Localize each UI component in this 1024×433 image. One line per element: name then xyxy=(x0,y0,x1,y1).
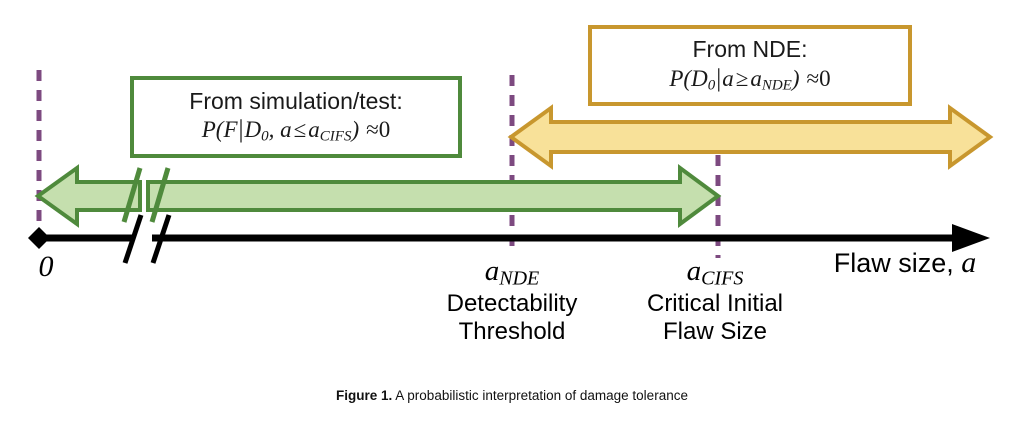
axis-title-symbol: a xyxy=(961,246,976,279)
formula-nde-close: ) xyxy=(792,66,800,91)
callout-nde-title: From NDE: xyxy=(693,37,808,63)
formula-sim-close: ) xyxy=(351,117,359,142)
callout-simulation: From simulation/test: P(F|D0, a≤aCIFS)≈0 xyxy=(130,76,462,158)
tick-symbol-a-cifs: aCIFS xyxy=(600,255,830,290)
tick-desc-a-nde-line1: Detectability xyxy=(397,290,627,318)
axis-origin-diamond xyxy=(28,227,50,249)
axis-title-text: Flaw size, xyxy=(834,248,962,278)
formula-sim-p-open: P(F xyxy=(202,117,238,142)
figure-caption-text: A probabilistic interpretation of damage… xyxy=(392,388,688,403)
tick-label-a-nde: aNDE Detectability Threshold xyxy=(397,255,627,346)
tick-symbol-a-cifs-var: a xyxy=(687,255,702,287)
figure-root: From simulation/test: P(F|D0, a≤aCIFS)≈0… xyxy=(0,0,1024,433)
tick-symbol-a-nde-sub: NDE xyxy=(499,267,539,289)
axis-origin-label: 0 xyxy=(26,250,66,284)
tick-symbol-a-cifs-sub: CIFS xyxy=(701,267,743,289)
formula-sim-cond-sub: 0 xyxy=(261,129,269,145)
axis-title: Flaw size, a xyxy=(805,246,1005,280)
formula-sim-relation: ≤ xyxy=(292,117,309,142)
callout-simulation-formula: P(F|D0, a≤aCIFS)≈0 xyxy=(202,116,391,145)
tick-desc-a-cifs-line2: Flaw Size xyxy=(600,318,830,346)
formula-nde-approx: ≈0 xyxy=(800,66,831,91)
formula-nde-relation: ≥ xyxy=(734,66,751,91)
simulation-range-arrow-body xyxy=(148,168,718,224)
formula-sim-approx: ≈0 xyxy=(359,117,390,142)
tick-symbol-a-nde: aNDE xyxy=(397,255,627,290)
formula-sim-cond-var: D xyxy=(245,117,262,142)
formula-sim-threshold-var: a xyxy=(308,117,320,142)
tick-desc-a-cifs-line1: Critical Initial xyxy=(600,290,830,318)
tick-desc-a-nde-line2: Threshold xyxy=(397,318,627,346)
tick-symbol-a-nde-var: a xyxy=(485,255,500,287)
formula-sim-var: a xyxy=(280,117,292,142)
nde-range-arrow xyxy=(511,108,990,166)
formula-nde-var: a xyxy=(722,66,734,91)
figure-caption: Figure 1. A probabilistic interpretation… xyxy=(0,388,1024,403)
tick-label-a-cifs: aCIFS Critical Initial Flaw Size xyxy=(600,255,830,346)
callout-simulation-title: From simulation/test: xyxy=(189,89,402,115)
callout-nde-formula: P(D0|a≥aNDE)≈0 xyxy=(669,65,830,94)
formula-sim-bar: | xyxy=(238,116,245,143)
formula-nde-threshold-sub: NDE xyxy=(762,77,792,93)
figure-caption-label: Figure 1. xyxy=(336,388,392,403)
formula-sim-comma: , xyxy=(269,117,281,142)
callout-nde: From NDE: P(D0|a≥aNDE)≈0 xyxy=(588,25,912,106)
formula-nde-p-open: P(D xyxy=(669,66,707,91)
formula-sim-threshold-sub: CIFS xyxy=(320,129,352,145)
formula-nde-threshold-var: a xyxy=(750,66,762,91)
